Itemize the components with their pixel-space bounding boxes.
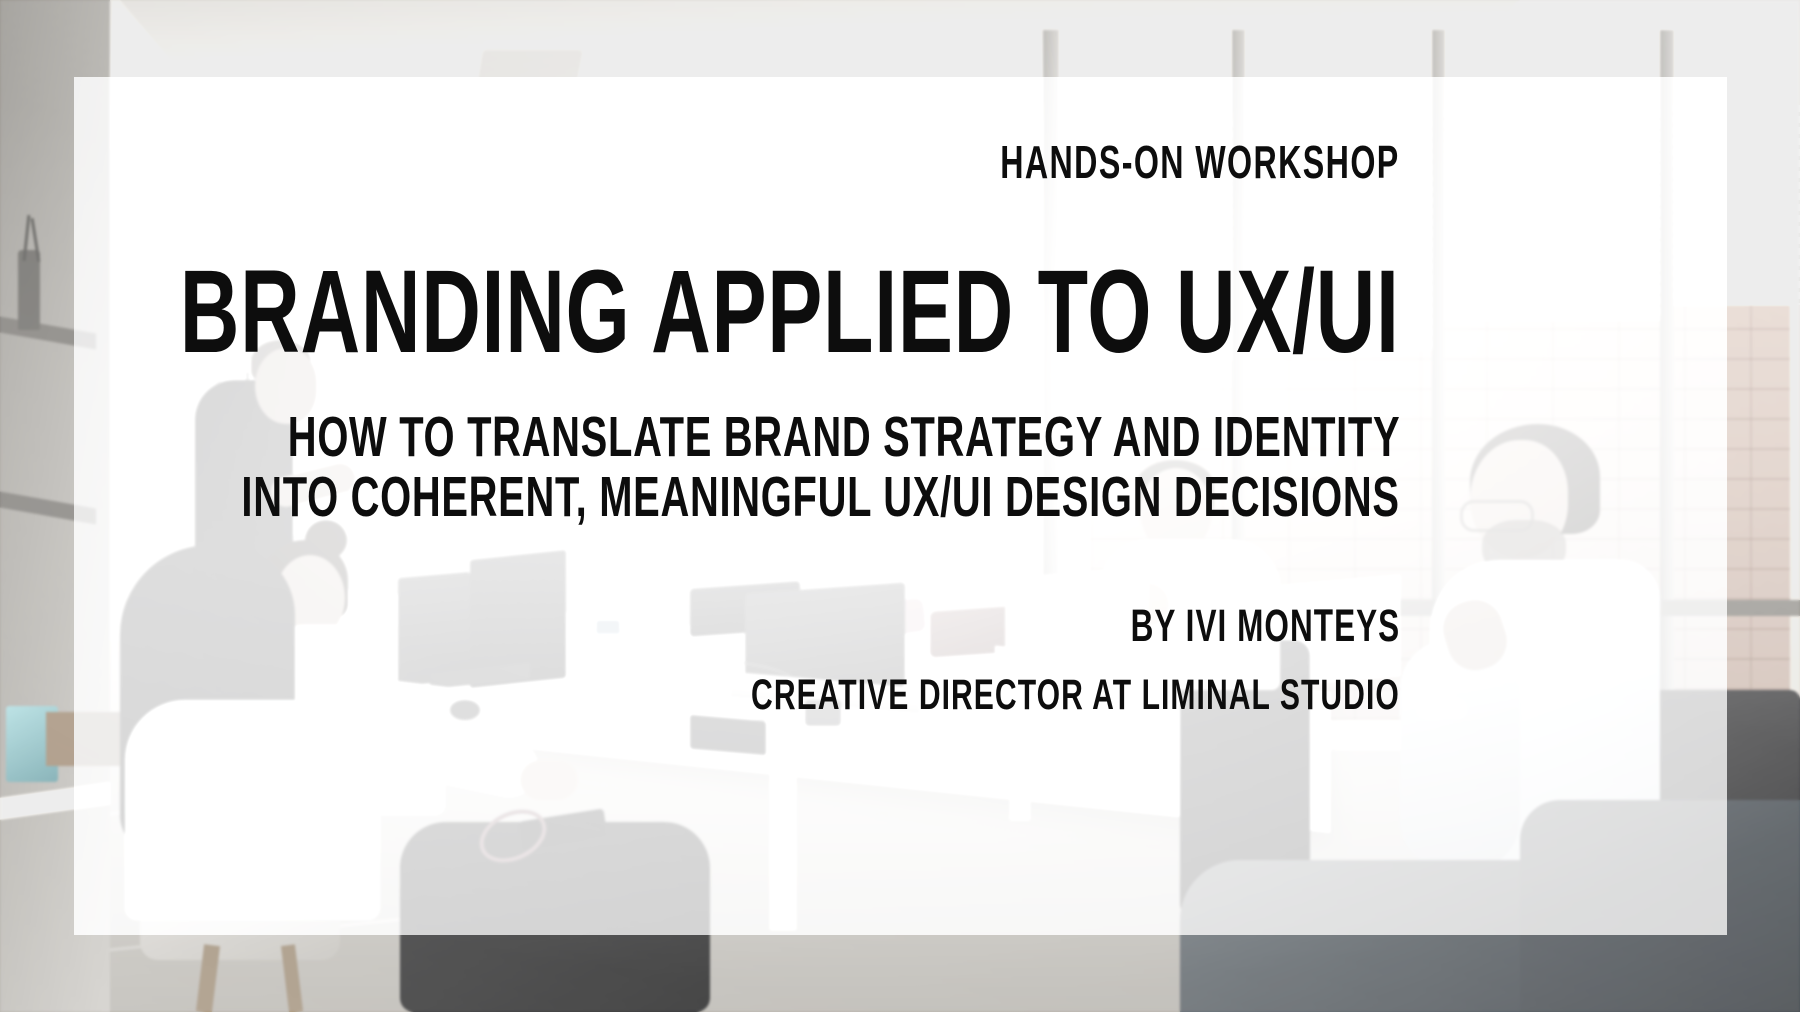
poster-text-block: HANDS-ON WORKSHOP BRANDING APPLIED TO UX… xyxy=(0,0,1800,1012)
speaker-byline: BY IVI MONTEYS xyxy=(1130,600,1400,652)
speaker-role: CREATIVE DIRECTOR AT LIMINAL STUDIO xyxy=(751,670,1400,720)
kicker-text: HANDS-ON WORKSHOP xyxy=(1001,136,1400,188)
poster-title: BRANDING APPLIED TO UX/UI xyxy=(180,248,1400,376)
subtitle-line-1: HOW TO TRANSLATE BRAND STRATEGY AND IDEN… xyxy=(287,405,1400,469)
subtitle-line-2: INTO COHERENT, MEANINGFUL UX/UI DESIGN D… xyxy=(242,465,1400,529)
workshop-poster: V SECURE xyxy=(0,0,1800,1012)
